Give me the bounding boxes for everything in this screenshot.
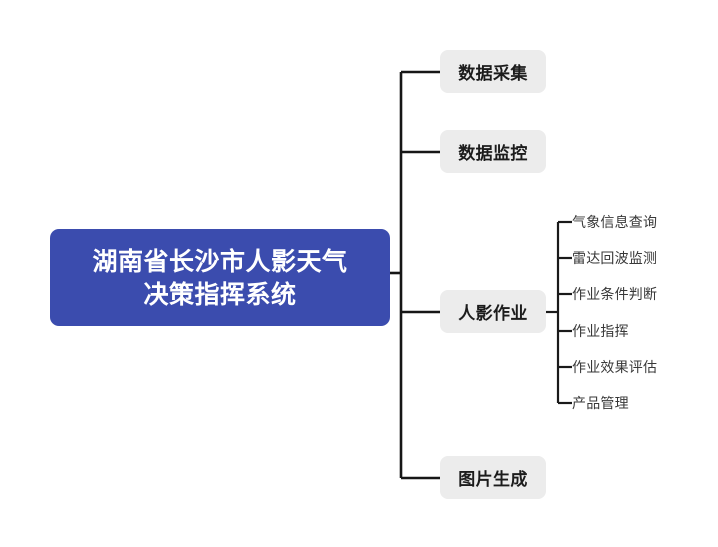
leaf-node-label: 气象信息查询 [572,212,657,232]
branch-node-image-generation[interactable]: 图片生成 [440,456,546,499]
leaf-node-operation-condition-judgement[interactable]: 作业条件判断 [572,284,657,304]
leaf-node-label: 雷达回波监测 [572,248,657,268]
branch-node-data-collection[interactable]: 数据采集 [440,50,546,93]
branch-node-label: 图片生成 [458,465,528,490]
leaf-node-label: 产品管理 [572,393,629,413]
branch-node-weather-modification[interactable]: 人影作业 [440,290,546,333]
leaf-node-label: 作业条件判断 [572,284,657,304]
branch-node-label: 数据采集 [458,59,528,84]
branch-node-data-monitoring[interactable]: 数据监控 [440,130,546,173]
branch-node-label: 数据监控 [458,139,528,164]
branch-node-label: 人影作业 [458,299,528,324]
leaf-node-weather-info-query[interactable]: 气象信息查询 [572,212,657,232]
leaf-node-label: 作业效果评估 [572,357,657,377]
leaf-node-operation-command[interactable]: 作业指挥 [572,321,629,341]
leaf-node-operation-effect-evaluation[interactable]: 作业效果评估 [572,357,657,377]
root-node-label: 湖南省长沙市人影天气 决策指挥系统 [92,245,347,311]
leaf-node-label: 作业指挥 [572,321,629,341]
root-node[interactable]: 湖南省长沙市人影天气 决策指挥系统 [50,229,390,326]
mindmap-diagram: 湖南省长沙市人影天气 决策指挥系统 数据采集 数据监控 人影作业 图片生成 气象… [0,0,718,547]
leaf-node-product-management[interactable]: 产品管理 [572,393,629,413]
leaf-node-radar-echo-monitoring[interactable]: 雷达回波监测 [572,248,657,268]
